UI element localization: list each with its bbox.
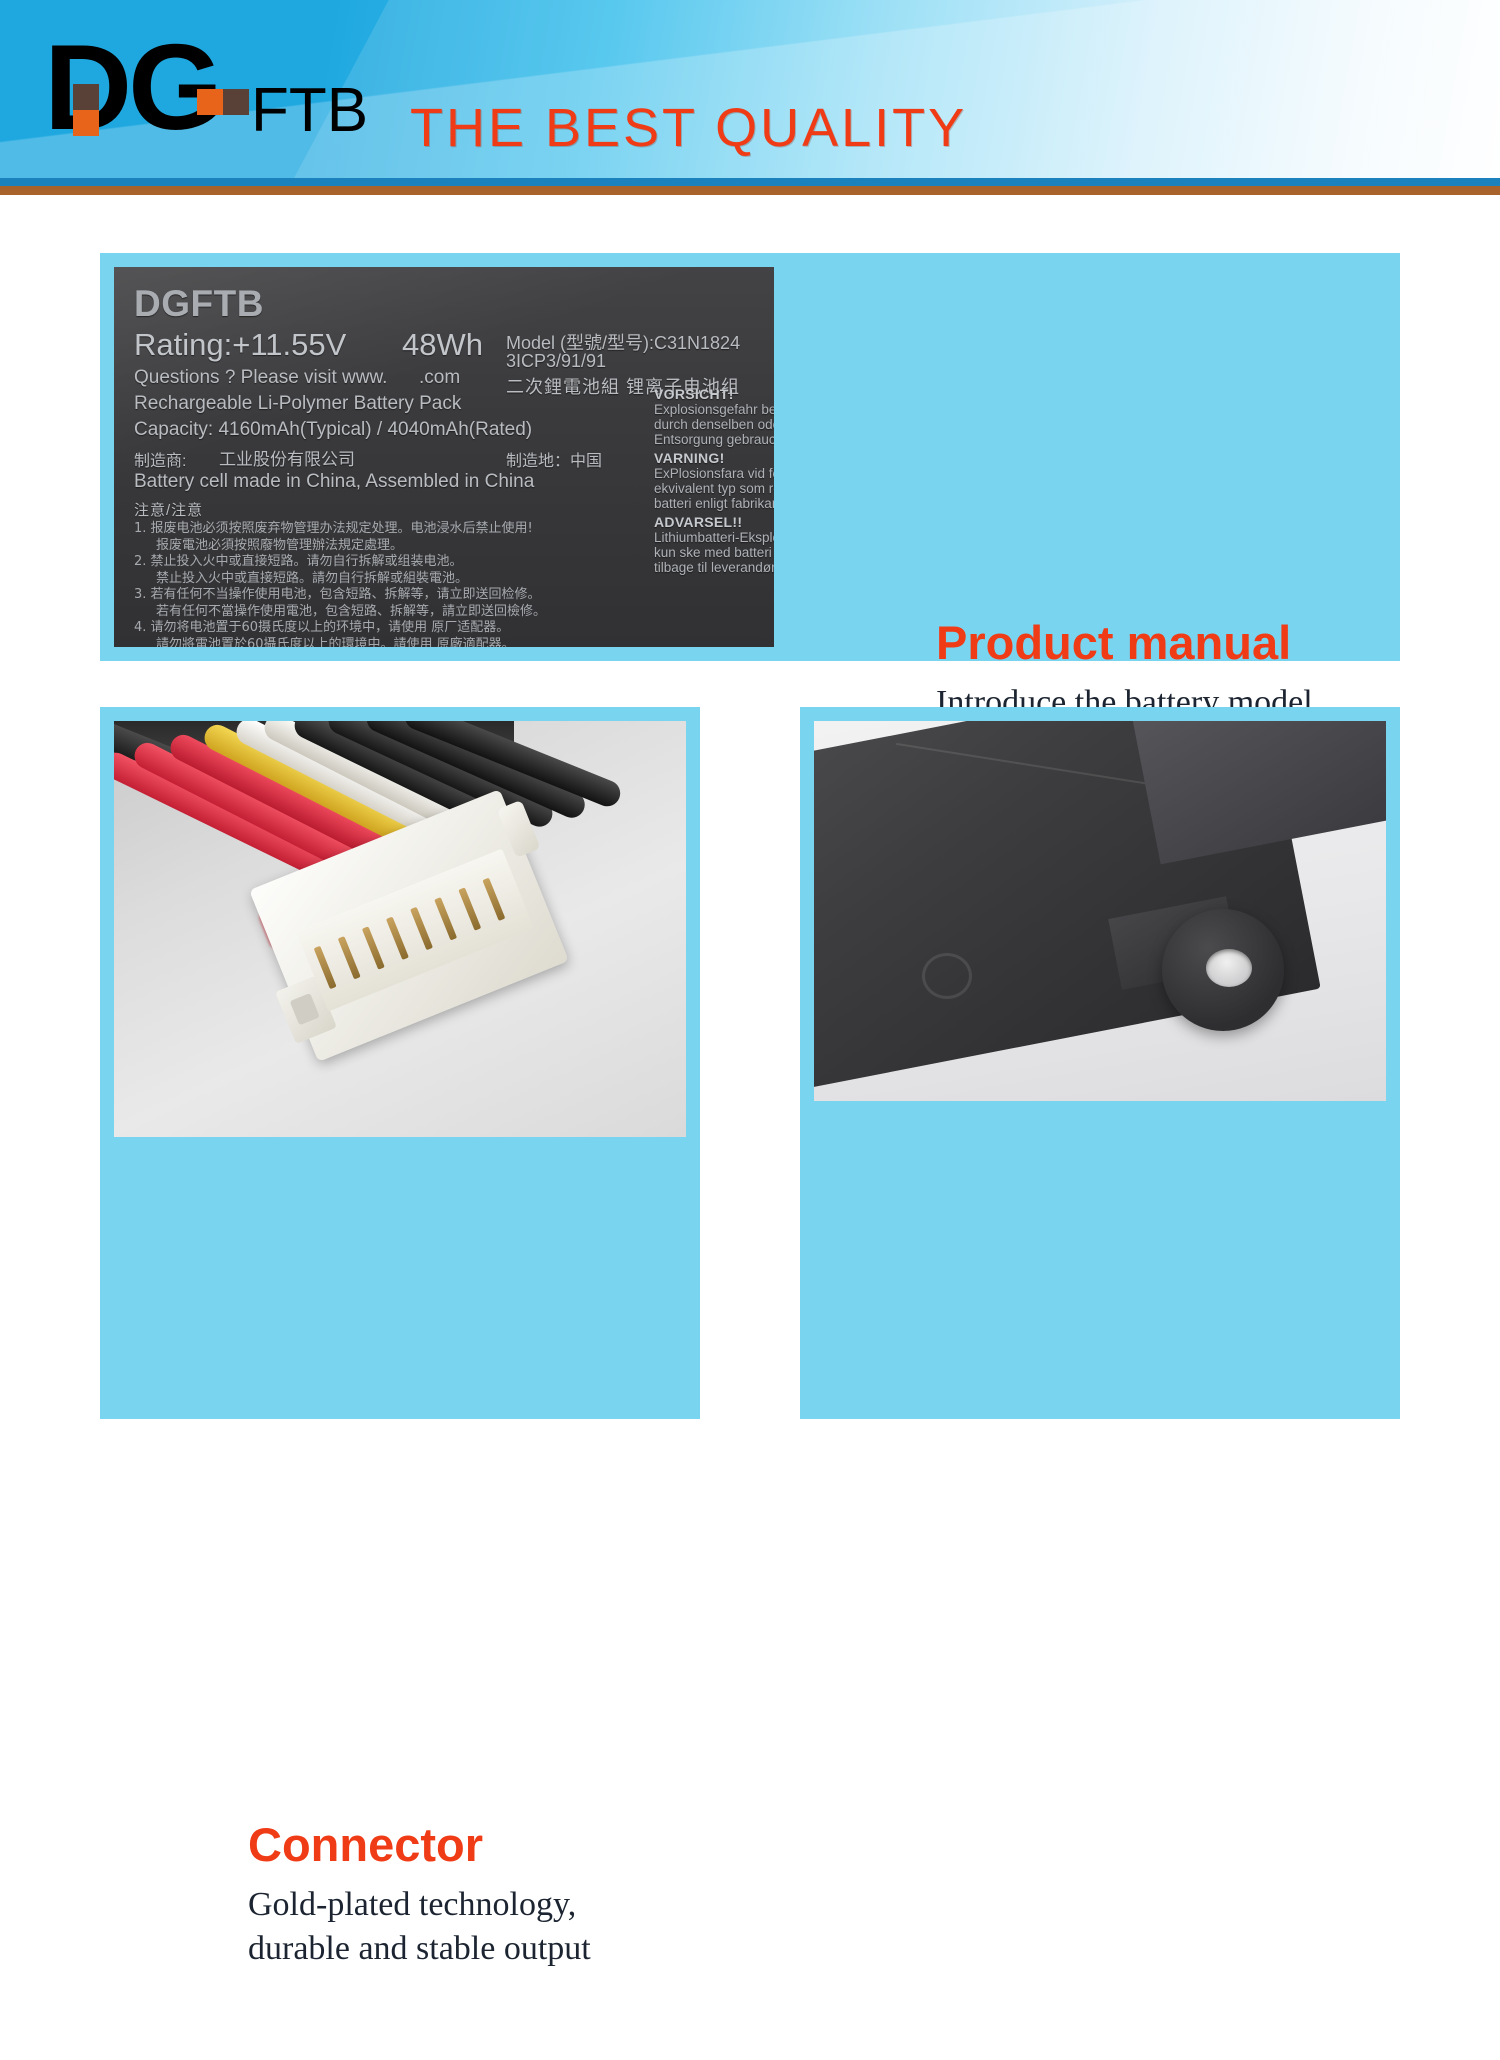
notice-line: 請勿將電池置於60攝氏度以上的環境中。請使用 原廠適配器。 xyxy=(134,637,694,648)
gold-pin xyxy=(410,907,433,950)
battery-recess-mark xyxy=(922,953,972,999)
panel-fixed-position: Fixed position Precise hole position, co… xyxy=(800,707,1400,1419)
warning-sv-title: VARNING! xyxy=(654,450,725,466)
connector-heading: Connector xyxy=(248,1821,591,1868)
warning-sv: VARNING! ExPlosionsfara vid fe ekvivalen… xyxy=(654,451,774,511)
page-header: DG FTB THE BEST QUALITY xyxy=(0,0,1500,186)
label-watt-hours: 48Wh xyxy=(402,327,483,363)
gold-pin xyxy=(314,946,337,989)
header-rule-orange xyxy=(0,186,1500,195)
connector-body: Gold-plated technology, durable and stab… xyxy=(248,1883,591,1971)
connector-text: Connector Gold-plated technology, durabl… xyxy=(248,1821,591,1971)
brand-logo: DG FTB xyxy=(44,42,344,147)
label-origin: 制造地：中国 xyxy=(506,447,602,471)
battery-corner-photo xyxy=(814,721,1386,1101)
label-questions: Questions ? Please visit www. xyxy=(134,367,387,389)
notice-line: 若有任何不當操作使用電池，包含短路、拆解等，請立即送回檢修。 xyxy=(134,604,694,621)
gold-pin xyxy=(386,917,409,960)
connector-body-line: Gold-plated technology, xyxy=(248,1883,591,1927)
warning-de: VORSICHT! Explosionsgefahr be durch dens… xyxy=(654,387,774,447)
logo-square-orange-g xyxy=(197,89,223,115)
panel-connector: Connector Gold-plated technology, durabl… xyxy=(100,707,700,1419)
warning-sv-line-3: batteri enligt fabrikant xyxy=(654,496,774,511)
label-chemistry: Rechargeable Li-Polymer Battery Pack xyxy=(134,393,461,415)
logo-square-brown-d xyxy=(73,84,99,110)
label-capacity: Capacity: 4160mAh(Typical) / 4040mAh(Rat… xyxy=(134,419,532,441)
logo-primary-text: DG xyxy=(44,26,219,148)
product-manual-heading: Product manual xyxy=(936,619,1332,666)
warning-sv-line-1: ExPlosionsfara vid fe xyxy=(654,466,774,481)
label-maker-key: 制造商: xyxy=(134,447,186,471)
notice-line: 1. 报废电池必须按照废弃物管理办法规定处理。电池浸水后禁止使用! xyxy=(134,521,694,538)
label-notice-header: 注意/注意 xyxy=(134,499,203,520)
gold-pin xyxy=(434,897,457,940)
notice-line: 禁止投入火中或直接短路。請勿自行拆解或組裝電池。 xyxy=(134,571,694,588)
gold-pin xyxy=(362,926,385,969)
notice-line: 3. 若有任何不当操作使用电池，包含短路、拆解等，请立即送回检修。 xyxy=(134,587,694,604)
label-cell-origin: Battery cell made in China, Assembled in… xyxy=(134,471,534,493)
notice-line: 报废電池必須按照廢物管理辦法規定處理。 xyxy=(134,538,694,555)
connector-body-line: durable and stable output xyxy=(248,1927,591,1971)
warning-de-line-2: durch denselben ode xyxy=(654,417,774,432)
logo-mark: DG FTB xyxy=(44,42,344,147)
label-dotcom: .com xyxy=(419,367,460,389)
battery-label-photo: DGFTB Rating:+11.55V 48Wh Questions ? Pl… xyxy=(114,267,774,647)
notice-line: 2. 禁止投入火中或直接短路。请勿自行拆解或组装电池。 xyxy=(134,554,694,571)
warning-sv-line-2: ekvivalent typ som re xyxy=(654,481,774,496)
label-icp-code: 3ICP3/91/91 xyxy=(506,351,606,372)
panel-product-manual: DGFTB Rating:+11.55V 48Wh Questions ? Pl… xyxy=(100,253,1400,661)
connector-pin-face xyxy=(296,849,534,1012)
warning-de-line-3: Entsorgung gebrauch xyxy=(654,432,774,447)
warning-de-line-1: Explosionsgefahr be xyxy=(654,402,774,417)
header-slogan: THE BEST QUALITY xyxy=(410,97,967,159)
label-brand: DGFTB xyxy=(134,283,264,325)
gold-pin xyxy=(482,878,505,921)
label-maker-value: 工业股份有限公司 xyxy=(219,445,355,470)
gold-pin xyxy=(338,936,361,979)
logo-secondary-text: FTB xyxy=(251,80,368,142)
label-rating: Rating:+11.55V xyxy=(134,327,346,363)
connector-latch-window xyxy=(290,993,320,1025)
label-notice-list: 1. 报废电池必须按照废弃物管理办法规定处理。电池浸水后禁止使用! 报废電池必須… xyxy=(134,521,694,647)
connector-photo xyxy=(114,721,686,1137)
battery-mount-hole xyxy=(1206,949,1252,987)
logo-square-brown-g xyxy=(223,89,249,115)
gold-pin xyxy=(458,887,481,930)
header-rule-blue xyxy=(0,178,1500,186)
notice-line: 4. 请勿将电池置于60摄氏度以上的环境中，请使用 原厂适配器。 xyxy=(134,620,694,637)
logo-square-orange-d xyxy=(73,110,99,136)
warning-de-title: VORSICHT! xyxy=(654,386,734,402)
